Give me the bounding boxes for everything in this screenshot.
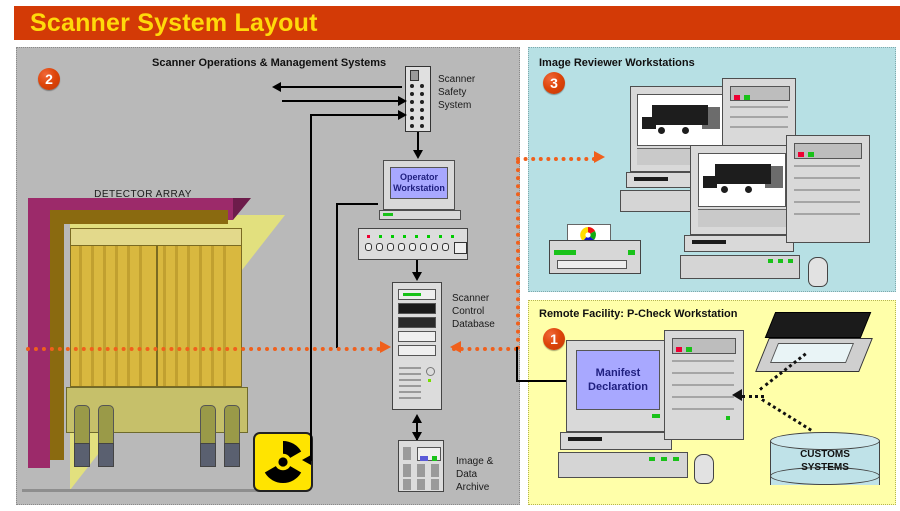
pcheck-mouse[interactable]: [694, 454, 714, 484]
operator-ws-label-line1: Operator: [393, 172, 445, 183]
flow-line: [310, 114, 312, 461]
pcheck-keyboard[interactable]: [558, 452, 688, 478]
flow-line: [336, 203, 338, 348]
image-and-data-archive: [398, 440, 444, 492]
flow-line: [280, 86, 402, 88]
panel-scanner-title: Scanner Operations & Management Systems: [152, 57, 386, 69]
detector-array-arm-vertical: [28, 198, 50, 468]
page-title: Scanner System Layout: [30, 9, 318, 38]
operator-workstation: Operator Workstation: [375, 160, 471, 224]
archive-label-line1: Image &: [456, 455, 516, 468]
detector-array-label: DETECTOR ARRAY: [78, 188, 208, 201]
ground-line: [22, 489, 262, 492]
customs-label-line2: SYSTEMS: [770, 461, 880, 474]
badge-1: 1: [543, 328, 565, 350]
scanner-safety-system-device: [405, 66, 431, 132]
operator-ws-label-line2: Workstation: [393, 183, 445, 194]
safety-system-label-line1: Scanner: [438, 73, 498, 86]
flow-dotted-to-reviewers: [516, 157, 596, 161]
flow-dotted-riser: [516, 160, 520, 350]
customs-label-line1: CUSTOMS: [770, 448, 880, 461]
detector-array-inner-horizontal: [50, 210, 228, 224]
manifest-label-line1: Manifest: [588, 366, 648, 380]
reviewer-xray-image-front: [698, 153, 786, 207]
truck-chassis: [66, 387, 248, 433]
flow-arrow-left: [272, 82, 281, 92]
title-bar: Scanner System Layout: [14, 6, 900, 40]
diagram-canvas: Scanner System Layout Scanner Operations…: [0, 0, 900, 511]
panel-remote-title: Remote Facility: P-Check Workstation: [539, 308, 737, 320]
badge-2: 2: [38, 68, 60, 90]
badge-3: 3: [543, 72, 565, 94]
network-switch: [358, 228, 468, 260]
reviewer-keyboard-front[interactable]: [680, 255, 800, 279]
flow-arrow-down: [412, 272, 422, 281]
manifest-label-line2: Declaration: [588, 380, 648, 394]
archive-label-line3: Archive: [456, 481, 516, 494]
pcheck-workstation: Manifest Declaration: [566, 330, 746, 490]
flow-dotted-arrow-right: [380, 341, 391, 353]
manifest-declaration-screen: Manifest Declaration: [576, 350, 660, 410]
control-db-label-line3: Database: [452, 318, 516, 331]
flow-arrow-right: [398, 96, 407, 106]
flow-arrow-to-radiation: [302, 455, 311, 465]
archive-label-line2: Data: [456, 468, 516, 481]
operator-workstation-screen: Operator Workstation: [390, 167, 448, 199]
customs-systems-database: CUSTOMS SYSTEMS: [770, 432, 880, 494]
flow-line: [516, 347, 518, 380]
flow-line: [310, 114, 400, 116]
color-printer: [549, 224, 641, 276]
control-db-label-line1: Scanner: [452, 292, 516, 305]
flow-arrow-up: [412, 414, 422, 423]
flow-dotted-db-link: [452, 347, 518, 351]
flow-arrow-right: [398, 110, 407, 120]
flow-line: [282, 100, 400, 102]
flow-dotted-scan-to-db: [26, 347, 381, 351]
safety-system-label-line2: Safety: [438, 86, 498, 99]
scanner-control-database-server: [392, 282, 442, 410]
detector-array-inner-vertical: [50, 210, 64, 460]
control-db-label-line2: Control: [452, 305, 516, 318]
detector-array-tip: [233, 198, 251, 220]
flow-dotted-merge: [742, 395, 764, 398]
reviewer-mouse[interactable]: [808, 257, 828, 287]
flow-line: [516, 380, 572, 382]
flow-arrow-down: [413, 150, 423, 159]
flow-dotted-arrow-left: [450, 341, 461, 353]
flow-line: [417, 132, 419, 152]
container-doors: [70, 245, 242, 387]
flow-line: [336, 203, 378, 205]
reviewer-toolbar-front[interactable]: [698, 209, 786, 227]
panel-review-title: Image Reviewer Workstations: [539, 57, 695, 69]
flow-dotted-arrow-into-pcheck: [732, 389, 742, 401]
flow-dotted-arrow-to-reviewers: [594, 151, 605, 163]
reviewer-workstation-front: [690, 135, 870, 275]
safety-system-label-line3: System: [438, 99, 498, 112]
